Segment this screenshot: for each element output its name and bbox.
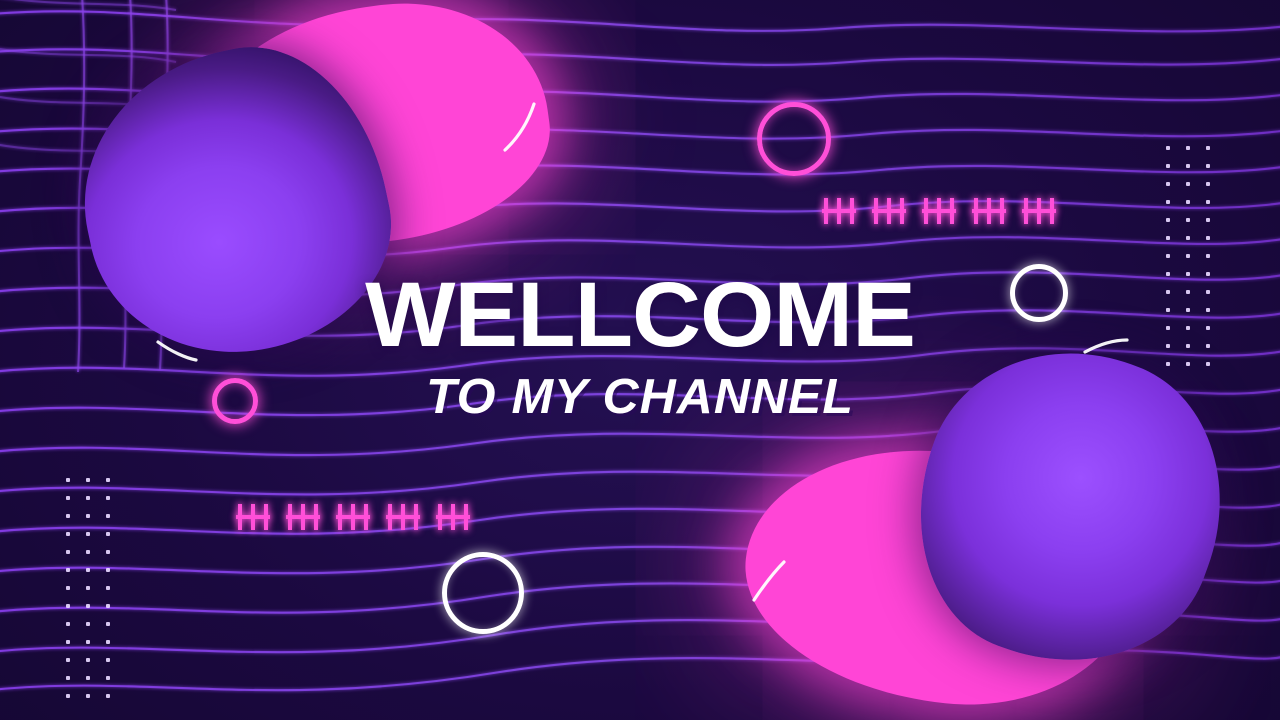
page-title: WELLCOME (0, 272, 1280, 359)
tally-mark (1022, 198, 1056, 224)
headline-block: WELLCOME TO MY CHANNEL (0, 272, 1280, 422)
dot-grid-left (66, 478, 110, 698)
tally-mark (922, 198, 956, 224)
tally-marks-bottom-left (236, 504, 470, 530)
tally-mark (436, 504, 470, 530)
tally-marks-top-right (822, 198, 1056, 224)
tally-mark (386, 504, 420, 530)
welcome-banner: WELLCOME TO MY CHANNEL (0, 0, 1280, 720)
tally-mark (336, 504, 370, 530)
tally-mark (972, 198, 1006, 224)
tally-mark (286, 504, 320, 530)
page-subtitle: TO MY CHANNEL (0, 373, 1280, 422)
tally-mark (822, 198, 856, 224)
pink-ring-top-right (757, 102, 831, 176)
white-ring-bottom (442, 552, 524, 634)
tally-mark (872, 198, 906, 224)
tally-mark (236, 504, 270, 530)
